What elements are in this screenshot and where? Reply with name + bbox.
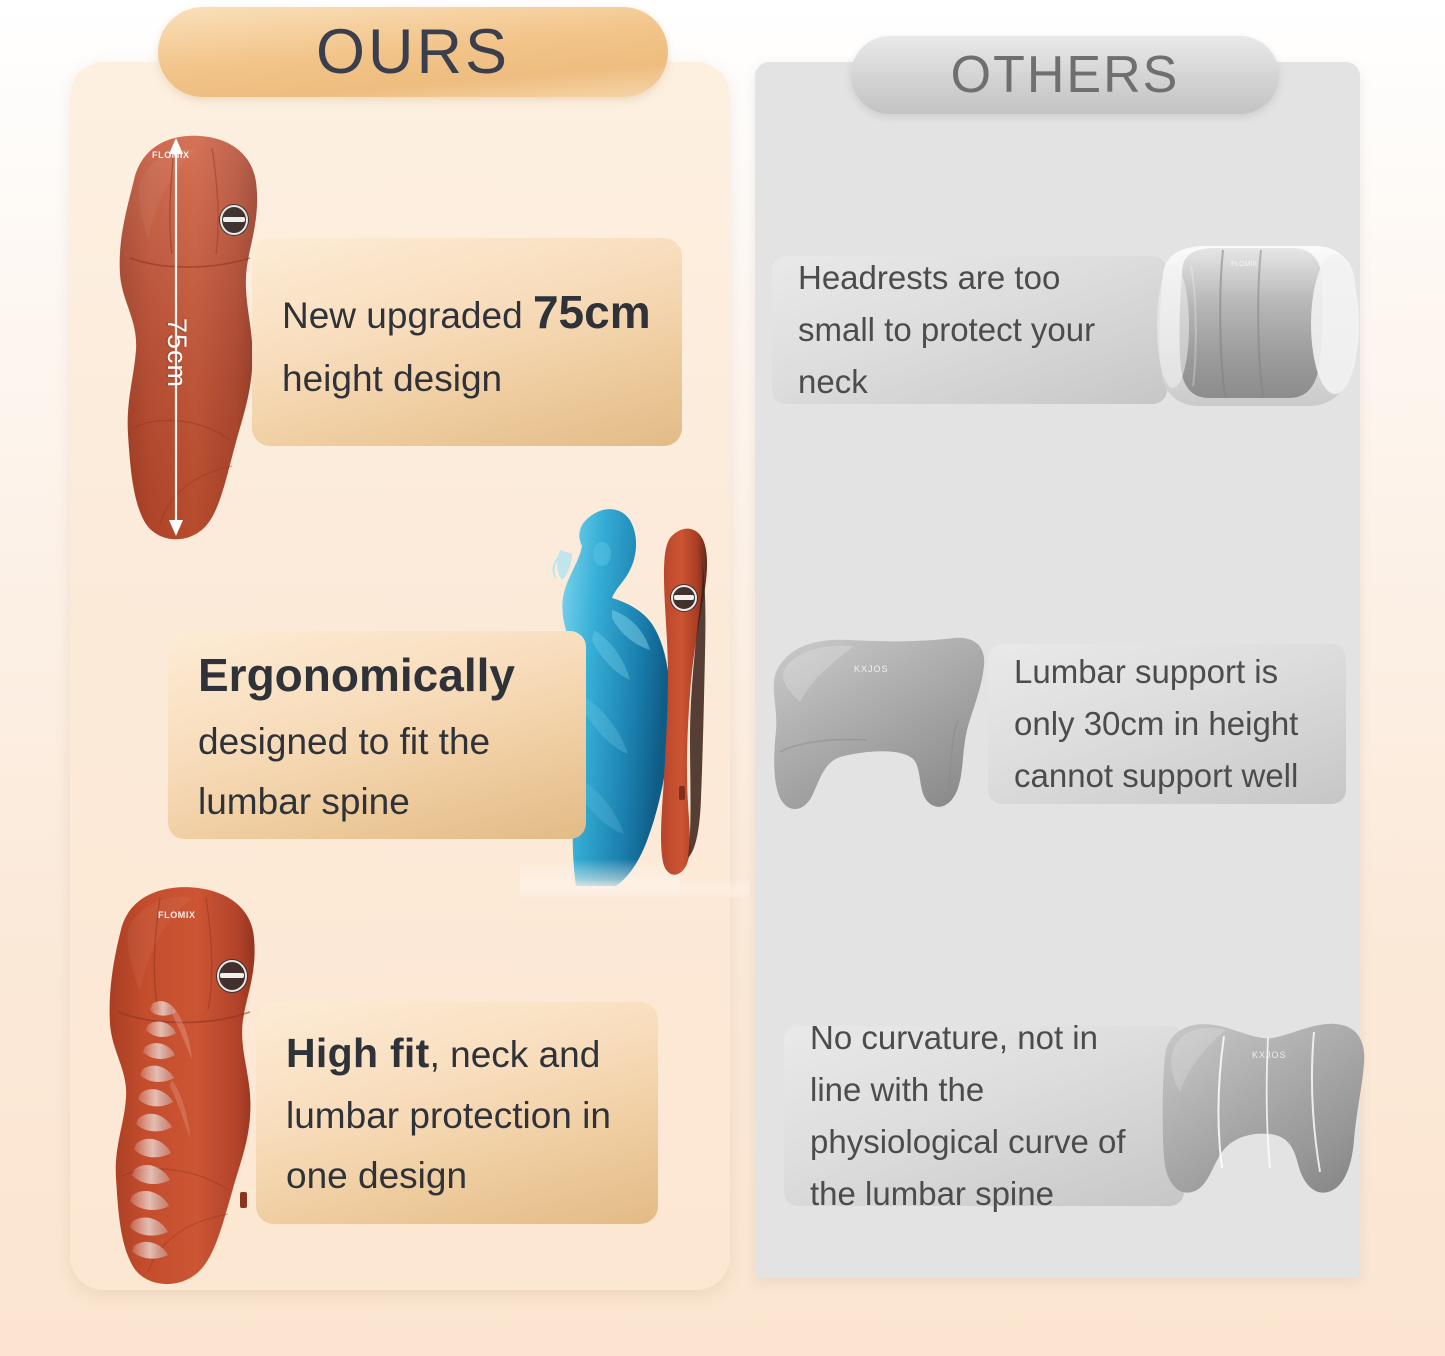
- height-text-tail: height design: [282, 358, 502, 399]
- callout-others-headrest: Headrests are too small to protect your …: [772, 256, 1167, 404]
- grey-flat-lumbar-cushion: KXJOS: [1148, 1006, 1370, 1211]
- header-pill-others: OTHERS: [851, 36, 1279, 114]
- callout-ours-highfit-text: High fit, neck and lumbar protection in …: [256, 1020, 658, 1206]
- infographic-canvas: FLOMIX 75cm New upgraded 75cm height des…: [0, 0, 1445, 1356]
- brand-logo-label: FLOMIX: [158, 910, 196, 920]
- header-label-others: OTHERS: [951, 45, 1180, 105]
- svg-text:KXJOS: KXJOS: [1252, 1050, 1287, 1060]
- ergonomic-text-highlight: Ergonomically: [198, 638, 515, 713]
- callout-ours-height: New upgraded 75cm height design: [252, 238, 682, 446]
- callout-others-lumbar: Lumbar support is only 30cm in height ca…: [988, 644, 1346, 804]
- ergonomic-text-tail: designed to fit the lumbar spine: [198, 721, 490, 822]
- svg-text:FLOMIX: FLOMIX: [1231, 261, 1257, 268]
- callout-others-curvature: No curvature, not in line with the physi…: [784, 1026, 1184, 1206]
- header-pill-ours: OURS: [158, 7, 668, 97]
- grey-butterfly-lumbar-cushion: KXJOS: [762, 620, 992, 820]
- dimension-label-75cm: 75cm: [161, 318, 192, 388]
- highfit-text-highlight: High fit: [286, 1030, 430, 1076]
- brand-logo-label: FLOMIX: [152, 150, 190, 160]
- callout-ours-ergonomic-text: Ergonomically designed to fit the lumbar…: [168, 638, 586, 832]
- callout-others-curvature-text: No curvature, not in line with the physi…: [784, 1012, 1184, 1221]
- callout-ours-ergonomic: Ergonomically designed to fit the lumbar…: [168, 631, 586, 839]
- callout-others-lumbar-text: Lumbar support is only 30cm in height ca…: [988, 646, 1346, 802]
- grey-cylindrical-headrest-pillow: FLOMIX: [1143, 238, 1363, 420]
- callout-ours-height-text: New upgraded 75cm height design: [252, 275, 681, 409]
- svg-text:KXJOS: KXJOS: [854, 664, 889, 674]
- height-text-lead: New upgraded: [282, 295, 533, 336]
- callout-ours-highfit: High fit, neck and lumbar protection in …: [256, 1002, 658, 1224]
- callout-others-headrest-text: Headrests are too small to protect your …: [772, 252, 1167, 408]
- height-text-highlight: 75cm: [533, 275, 651, 350]
- header-label-ours: OURS: [316, 16, 510, 88]
